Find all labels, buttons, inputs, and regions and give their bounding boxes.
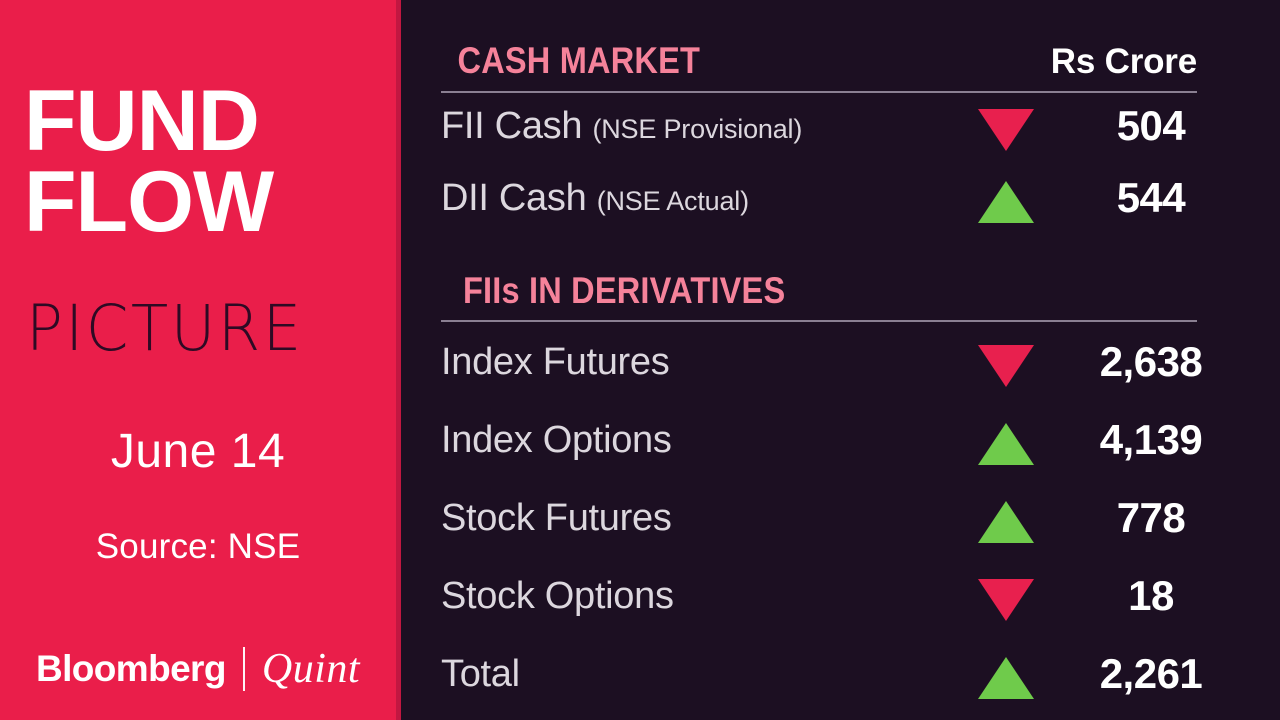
row-value-stock-options: 18: [1041, 572, 1261, 620]
section-rule-fiis-derivatives: [441, 320, 1197, 322]
table-row: Total 2,261: [441, 653, 1201, 709]
publisher-logo: Bloomberg Quint: [0, 645, 396, 693]
row-label-text: Stock Options: [441, 575, 674, 617]
table-row: DII Cash (NSE Actual) 544: [441, 177, 1201, 233]
brand-panel: FUND FLOW PICTURE June 14 Source: NSE Bl…: [0, 0, 396, 720]
row-value-fii-cash: 504: [1041, 102, 1261, 150]
row-label-stock-options: Stock Options: [441, 575, 674, 618]
row-label-text: Total: [441, 653, 520, 695]
section-title-fiis-derivatives: FIIs IN DERIVATIVES: [463, 270, 785, 312]
table-row: Index Futures 2,638: [441, 341, 1201, 397]
source-label: Source: NSE: [0, 527, 396, 567]
section-title-cash-market: CASH MARKET: [458, 40, 701, 82]
logo-divider: [243, 647, 245, 691]
triangle-down-icon: [978, 579, 1034, 621]
triangle-up-icon: [978, 657, 1034, 699]
logo-quint-text: Quint: [262, 645, 360, 693]
row-label-text: Index Options: [441, 419, 672, 461]
row-value-dii-cash: 544: [1041, 174, 1261, 222]
brand-title-line-1: FUND: [24, 82, 259, 162]
section-header-fiis-derivatives: FIIs IN DERIVATIVES: [441, 270, 1197, 312]
row-value-stock-futures: 778: [1041, 494, 1261, 542]
triangle-down-icon: [978, 109, 1034, 151]
row-label-index-options: Index Options: [441, 419, 672, 462]
table-row: Index Options 4,139: [441, 419, 1201, 475]
row-label-text: Stock Futures: [441, 497, 672, 539]
row-label-total: Total: [441, 653, 520, 696]
table-row: Stock Options 18: [441, 575, 1201, 631]
unit-label-rs-crore: Rs Crore: [1051, 42, 1197, 82]
row-label-fii-cash: FII Cash (NSE Provisional): [441, 105, 802, 148]
row-label-text: Index Futures: [441, 341, 669, 383]
triangle-up-icon: [978, 181, 1034, 223]
logo-bloomberg-text: Bloomberg: [36, 648, 226, 690]
row-value-index-options: 4,139: [1041, 416, 1261, 464]
table-row: FII Cash (NSE Provisional) 504: [441, 105, 1201, 161]
section-header-cash-market: CASH MARKET Rs Crore: [441, 40, 1197, 82]
row-label-text: DII Cash: [441, 177, 586, 219]
row-label-text: FII Cash: [441, 105, 582, 147]
row-value-total: 2,261: [1041, 650, 1261, 698]
brand-title-line-2: FLOW: [24, 163, 273, 243]
date-label: June 14: [0, 424, 396, 479]
row-label-stock-futures: Stock Futures: [441, 497, 672, 540]
row-label-index-futures: Index Futures: [441, 341, 669, 384]
row-label-dii-cash: DII Cash (NSE Actual): [441, 177, 749, 220]
section-rule-cash-market: [441, 91, 1197, 93]
row-sublabel-text: (NSE Actual): [597, 186, 749, 216]
table-row: Stock Futures 778: [441, 497, 1201, 553]
infographic-canvas: FUND FLOW PICTURE June 14 Source: NSE Bl…: [0, 0, 1280, 720]
row-value-index-futures: 2,638: [1041, 338, 1261, 386]
row-sublabel-text: (NSE Provisional): [592, 114, 802, 144]
triangle-up-icon: [978, 423, 1034, 465]
triangle-down-icon: [978, 345, 1034, 387]
data-panel: CASH MARKET Rs Crore FII Cash (NSE Provi…: [401, 0, 1280, 720]
triangle-up-icon: [978, 501, 1034, 543]
brand-title-line-3: PICTURE: [26, 297, 304, 360]
